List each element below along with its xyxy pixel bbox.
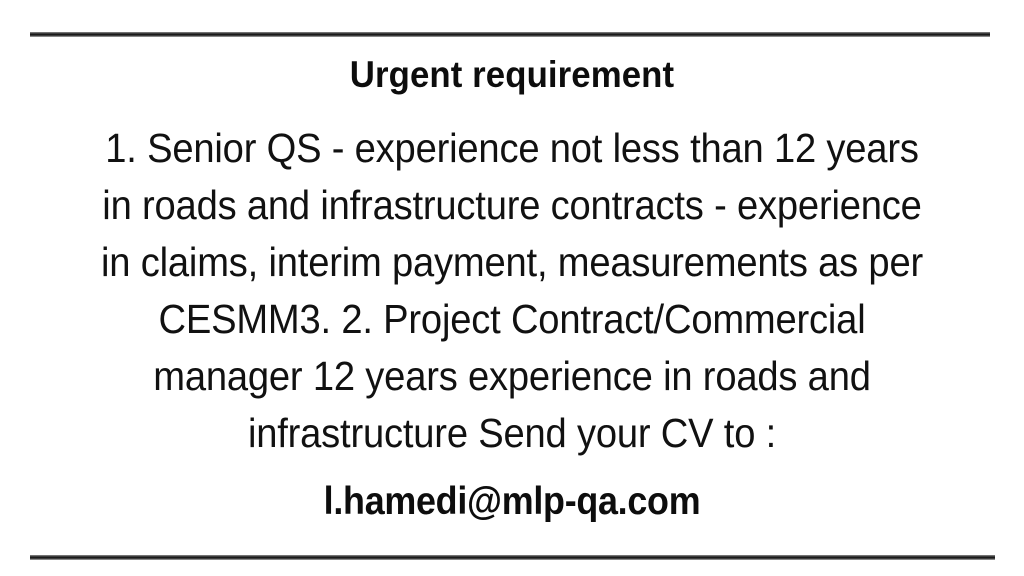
advertisement-card: Urgent requirement 1. Senior QS - experi… [0,0,1024,576]
body-line-5: manager 12 years experience in roads and [67,348,956,405]
top-divider-rule [30,32,990,37]
contact-email[interactable]: l.hamedi@mlp-qa.com [41,478,983,526]
bottom-divider-rule [30,555,995,560]
advertisement-body: 1. Senior QS - experience not less than … [34,120,990,462]
body-line-4: CESMM3. 2. Project Contract/Commercial [67,291,956,348]
body-line-2: in roads and infrastructure contracts - … [67,177,956,234]
body-line-3: in claims, interim payment, measurements… [67,234,956,291]
body-line-6: infrastructure Send your CV to : [67,405,956,462]
advertisement-heading: Urgent requirement [31,52,994,98]
body-line-1: 1. Senior QS - experience not less than … [67,120,956,177]
